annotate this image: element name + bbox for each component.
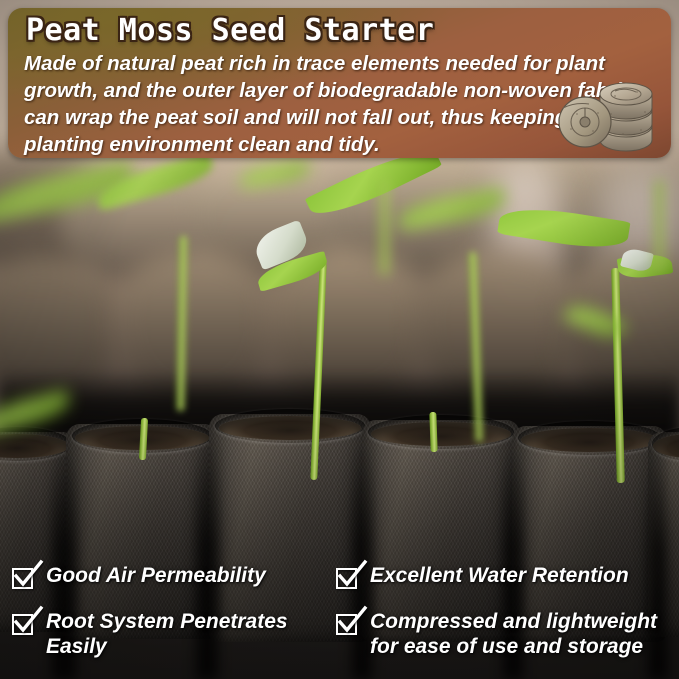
feature-item-root-system-penetrates-easily: Root System Penetrates Easily [12, 609, 312, 659]
peat-pellet-stack-icon [553, 74, 665, 156]
pellet-soil [371, 422, 510, 446]
product-infographic: Peat Moss Seed Starter Made of natural p… [0, 0, 679, 679]
feature-label: Excellent Water Retention [370, 563, 629, 588]
seedling-stem [380, 180, 389, 275]
feature-list: Good Air Permeability Excellent Water Re… [0, 559, 679, 679]
pellet-soil [219, 416, 362, 440]
checked-checkbox-icon [336, 612, 361, 637]
feature-label: Root System Penetrates Easily [46, 609, 312, 659]
feature-label: Good Air Permeability [46, 563, 266, 588]
feature-item-good-air-permeability: Good Air Permeability [12, 563, 266, 591]
feature-item-excellent-water-retention: Excellent Water Retention [336, 563, 629, 591]
seedling-stem [429, 412, 437, 452]
page-title: Peat Moss Seed Starter [26, 13, 434, 48]
checked-checkbox-icon [12, 566, 37, 591]
pellet-soil [521, 428, 657, 452]
checked-checkbox-icon [12, 612, 37, 637]
feature-label: Compressed and lightweight for ease of u… [370, 609, 672, 659]
header-banner: Peat Moss Seed Starter Made of natural p… [8, 8, 671, 158]
feature-item-compressed-and-lightweight: Compressed and lightweight for ease of u… [336, 609, 672, 659]
seedling-stem [655, 180, 664, 270]
checked-checkbox-icon [336, 566, 361, 591]
